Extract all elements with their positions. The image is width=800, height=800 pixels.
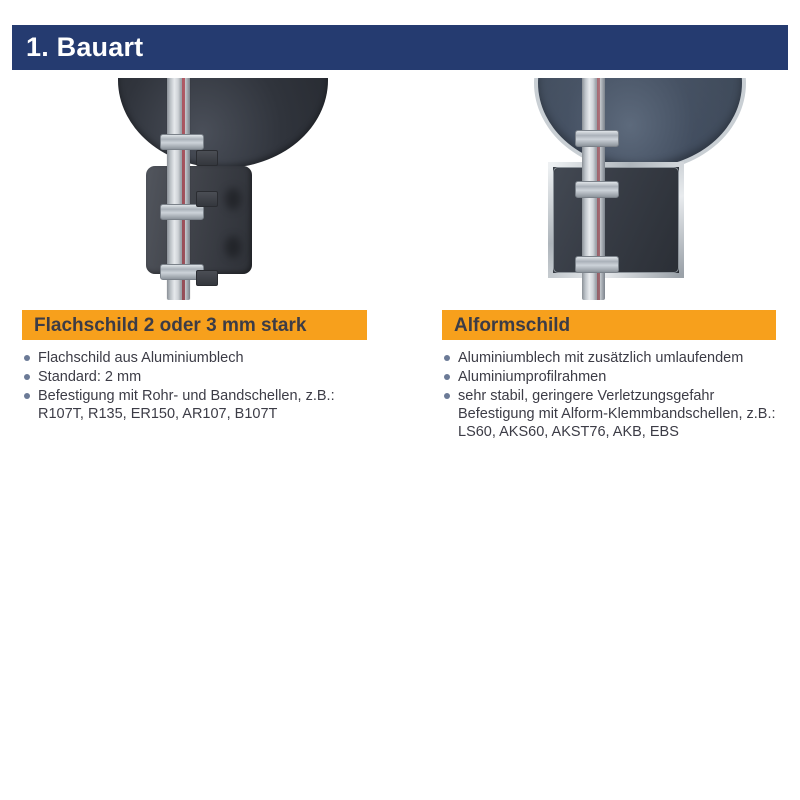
section-header-bar: 1. Bauart: [12, 25, 788, 70]
list-item: Befestigung mit Rohr- und Bandschellen, …: [22, 387, 372, 423]
bullet-dot-icon: [444, 355, 450, 361]
mounting-bracket: [196, 270, 218, 286]
list-item-text: sehr stabil, geringere Verletzungsgefahr: [458, 388, 714, 404]
pipe-clamp: [575, 130, 619, 147]
round-sign-back-icon: [118, 78, 328, 168]
list-item: Aluminiumblech mit zusätzlich umlaufende…: [442, 349, 787, 367]
list-item-text: Flachschild aus Aluminiumblech: [38, 350, 244, 366]
product-comparison: Flachschild 2 oder 3 mm stark Flachschil…: [0, 78, 800, 448]
caption-label: Flachschild 2 oder 3 mm stark: [22, 316, 306, 335]
plate-shadow: [225, 236, 241, 258]
list-item-subtext: Befestigung mit Alform-Klemmbandschellen…: [458, 405, 787, 441]
list-item: Flachschild aus Aluminiumblech: [22, 349, 372, 367]
bullet-dot-icon: [24, 355, 30, 361]
bullet-dot-icon: [444, 374, 450, 380]
list-item-text: Standard: 2 mm: [38, 369, 141, 385]
caption-label: Alformschild: [442, 316, 570, 335]
list-item-text: Aluminiumblech mit zusätzlich umlaufende…: [458, 350, 743, 366]
bullet-dot-icon: [24, 374, 30, 380]
mounting-bracket: [196, 191, 218, 207]
bullet-dot-icon: [24, 393, 30, 399]
list-item: Standard: 2 mm: [22, 368, 372, 386]
plate-shadow: [225, 188, 241, 210]
bullet-dot-icon: [444, 393, 450, 399]
flat-sign-plate: [146, 166, 252, 274]
column-flachschild: Flachschild 2 oder 3 mm stark Flachschil…: [10, 78, 400, 448]
flachschild-photo: [10, 78, 400, 300]
list-item: Aluminiumprofilrahmen: [442, 368, 787, 386]
caption-bar-alformschild: Alformschild: [442, 310, 776, 340]
feature-list-flachschild: Flachschild aus Aluminiumblech Standard:…: [22, 349, 372, 423]
caption-bar-flachschild: Flachschild 2 oder 3 mm stark: [22, 310, 367, 340]
page-title: 1. Bauart: [12, 34, 143, 61]
round-sign-back-icon: [534, 78, 746, 172]
list-item: sehr stabil, geringere Verletzungsgefahr…: [442, 387, 787, 441]
column-alformschild: Alformschild Aluminiumblech mit zusätzli…: [430, 78, 800, 448]
list-item-subtext: R107T, R135, ER150, AR107, B107T: [38, 405, 372, 423]
list-item-text: Befestigung mit Rohr- und Bandschellen, …: [38, 388, 335, 404]
list-item-text: Aluminiumprofilrahmen: [458, 369, 606, 385]
alformschild-photo: [430, 78, 800, 300]
pipe-clamp: [160, 134, 204, 150]
pipe-clamp: [575, 181, 619, 198]
feature-list-alformschild: Aluminiumblech mit zusätzlich umlaufende…: [442, 349, 787, 441]
pipe-clamp: [575, 256, 619, 273]
mounting-bracket: [196, 150, 218, 166]
